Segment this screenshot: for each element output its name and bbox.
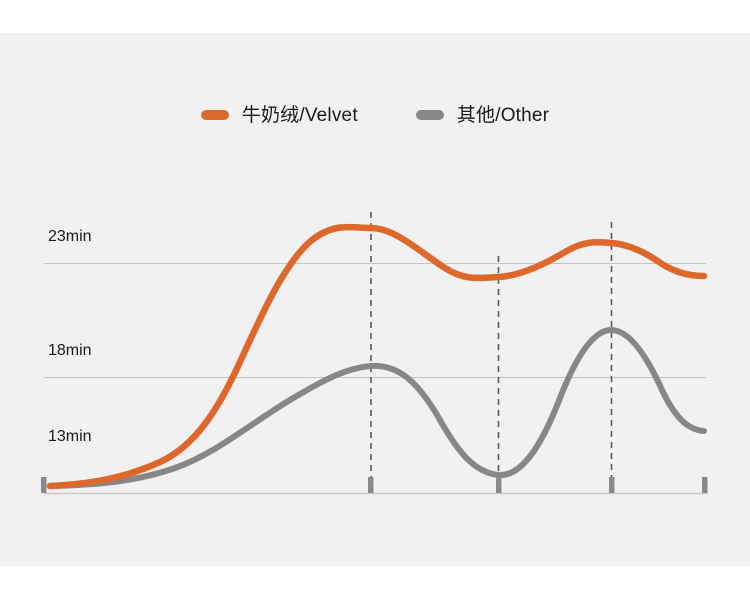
gridlines: [44, 264, 706, 378]
x-axis-tick-1: [368, 477, 374, 493]
series-lines: [50, 227, 704, 486]
x-axis-tick-2: [496, 477, 502, 493]
x-axis-tick-3: [609, 477, 615, 493]
x-axis-tick-4: [702, 477, 708, 493]
annotation-dashed-lines: [371, 212, 612, 492]
chart-plot-area: [0, 0, 750, 592]
series-line-other: [50, 330, 704, 486]
chart-container: 牛奶绒/Velvet 其他/Other 23min 18min 13min: [0, 0, 750, 592]
series-line-velvet: [50, 227, 704, 486]
x-axis-tick-0: [41, 477, 47, 493]
